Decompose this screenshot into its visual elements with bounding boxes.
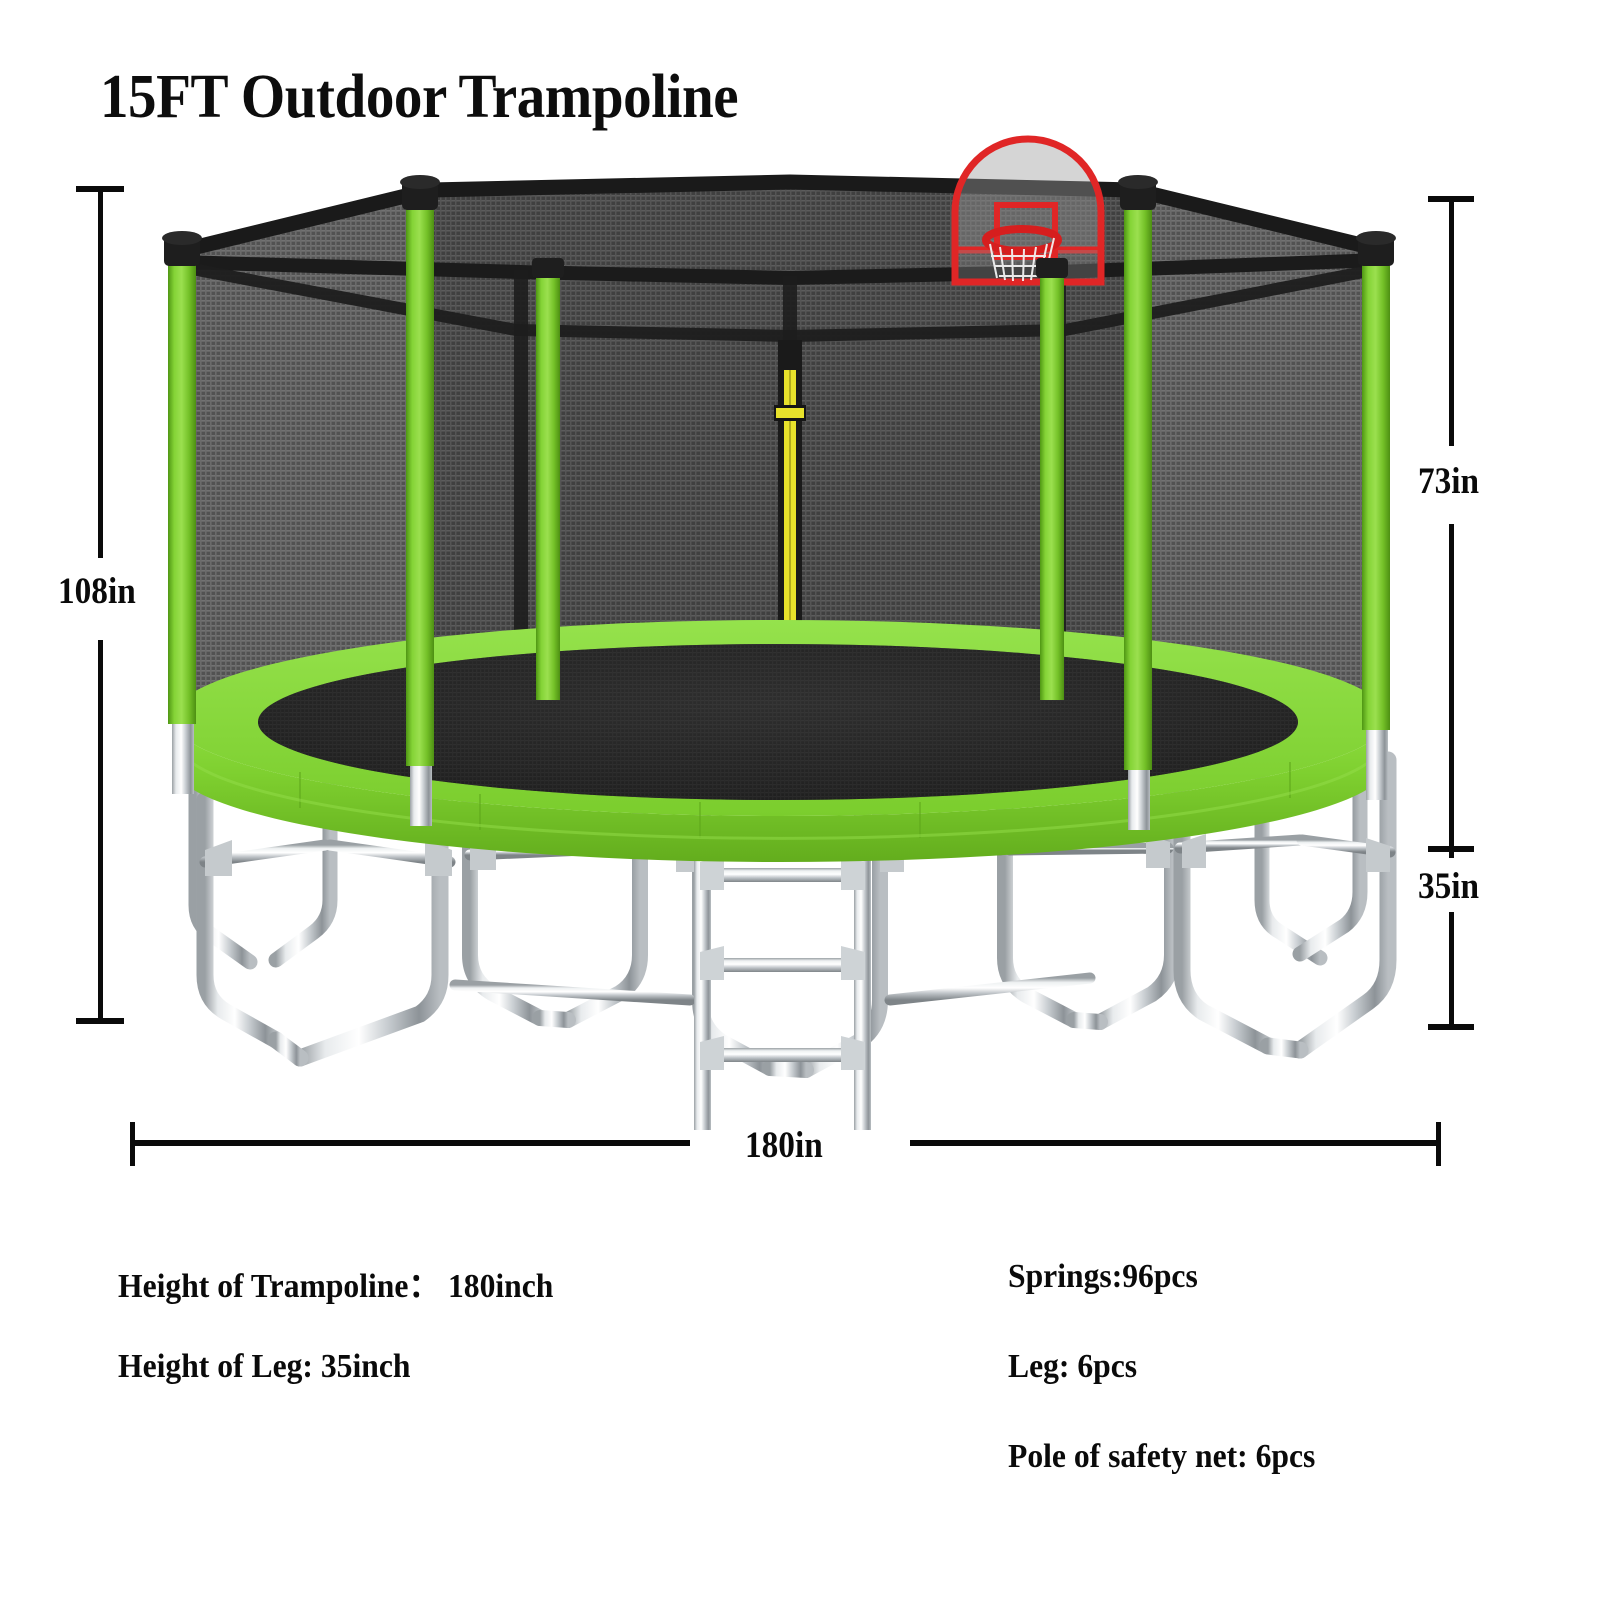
product-spec-diagram: 15FT Outdoor Trampoline	[0, 0, 1600, 1600]
dim-108-bottom-cap	[76, 1018, 124, 1024]
pole-4	[1036, 258, 1068, 700]
dim-label-diameter: 180in	[745, 1124, 823, 1167]
dim-35-line-lower	[1449, 912, 1454, 1030]
leg-cross-braces	[205, 840, 1390, 1000]
dim-label-net-height: 73in	[1418, 460, 1479, 503]
pole-3	[532, 258, 564, 700]
spec-height-of-trampoline: Height of Trampoline： 180inch	[118, 1258, 553, 1307]
pole-1	[162, 231, 202, 724]
pole-6	[1356, 231, 1396, 730]
dim-label-overall-height: 108in	[58, 570, 136, 613]
dim-73-line-lower	[1449, 524, 1454, 846]
dim-180-line-right	[910, 1140, 1440, 1146]
pole-5	[1118, 175, 1158, 770]
spec-springs: Springs:96pcs	[1008, 1258, 1198, 1296]
pole-2	[400, 175, 440, 766]
spec-leg-count: Leg: 6pcs	[1008, 1348, 1137, 1386]
dim-35-bottom-cap	[1428, 1024, 1474, 1030]
spec-pole-count: Pole of safety net: 6pcs	[1008, 1438, 1315, 1476]
frame-pad	[172, 620, 1388, 862]
basketball-hoop	[955, 139, 1101, 282]
dim-73-line-upper	[1449, 196, 1454, 446]
spec-height-of-leg: Height of Leg: 35inch	[118, 1348, 410, 1386]
dim-180-line-left	[130, 1140, 690, 1146]
dim-35-line-upper	[1449, 846, 1454, 858]
dim-108-line-upper	[98, 186, 103, 558]
dim-180-right-cap	[1436, 1122, 1441, 1166]
dim-label-leg-height: 35in	[1418, 865, 1479, 908]
dim-108-line-lower	[98, 640, 103, 1022]
